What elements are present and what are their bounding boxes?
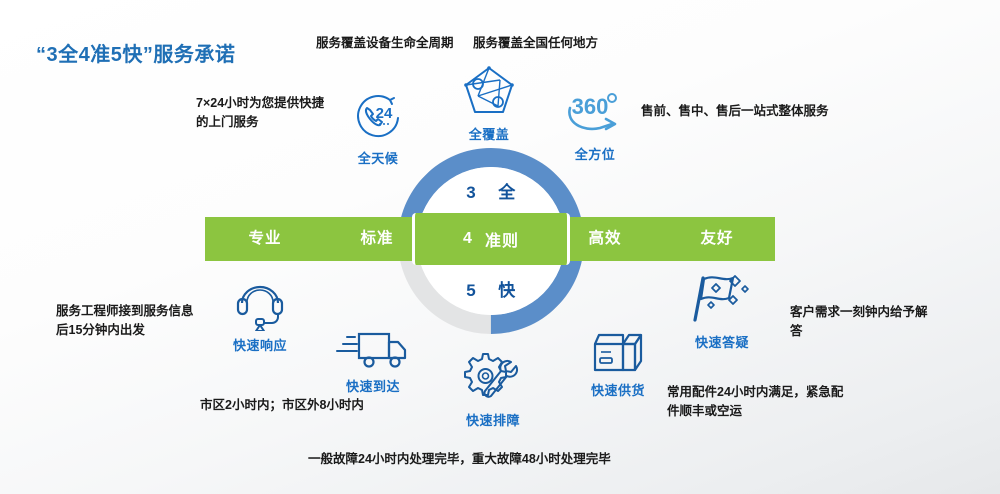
note-fault-resolution: 一般故障24小时内处理完毕，重大故障48小时处理完毕 — [308, 450, 611, 469]
center-row-three-number: 3 — [466, 183, 476, 203]
truck-icon — [335, 326, 411, 372]
center-row-three: 3全 — [398, 178, 584, 203]
icon-group-fast-supply[interactable]: 快速供货 — [563, 330, 673, 399]
icon-label-fast-response: 快速响应 — [205, 335, 315, 354]
flag-icon — [689, 272, 755, 328]
center-row-five-number: 5 — [466, 281, 476, 301]
icon-group-fast-answering[interactable]: 快速答疑 — [667, 272, 777, 351]
icon-label-fast-arrival: 快速到达 — [318, 376, 428, 395]
gear-wrench-icon — [459, 348, 527, 406]
center-row-four-word: 准则 — [485, 227, 519, 251]
bar-cell-efficient: 高效 — [555, 217, 655, 261]
note-coverage-lifecycle: 服务覆盖设备生命全周期 — [316, 34, 454, 53]
icon-label-full-coverage: 全覆盖 — [434, 124, 544, 143]
pentagon-network-icon — [460, 62, 518, 120]
360-degree-icon: 360 — [560, 88, 630, 140]
headset-icon — [230, 275, 290, 331]
icon-group-fast-response[interactable]: 快速响应 — [205, 275, 315, 354]
icon-label-fast-supply: 快速供货 — [563, 380, 673, 399]
icon-group-full-coverage[interactable]: 全覆盖 — [434, 62, 544, 143]
note-247-service: 7×24小时为您提供快捷 的上门服务 — [196, 94, 324, 133]
note-one-stop-service: 售前、售中、售后一站式整体服务 — [641, 102, 829, 121]
24-hour-phone-icon: 24 — [350, 88, 406, 144]
icon-group-fast-repair[interactable]: 快速排障 — [438, 348, 548, 429]
center-row-four-number: 4 — [463, 230, 473, 248]
note-coverage-nationwide: 服务覆盖全国任何地方 — [473, 34, 598, 53]
note-dispatch-15min: 服务工程师接到服务信息 后15分钟内出发 — [56, 302, 194, 341]
svg-text:24: 24 — [376, 105, 393, 122]
center-row-five: 5快 — [398, 276, 584, 301]
center-row-three-word: 全 — [498, 183, 516, 202]
note-answer-quarter-hour: 客户需求一刻钟内给予解 答 — [790, 303, 928, 342]
page-title: “3全4准5快”服务承诺 — [36, 38, 235, 67]
note-parts-supply: 常用配件24小时内满足，紧急配 件顺丰或空运 — [667, 383, 843, 422]
slide-canvas: “3全4准5快”服务承诺 服务覆盖设备生命全周期 服务覆盖全国任何地方 7×24… — [0, 0, 1000, 494]
center-row-five-word: 快 — [498, 281, 516, 300]
bar-cell-friendly: 友好 — [667, 217, 767, 261]
svg-text:360: 360 — [572, 94, 609, 119]
box-icon — [587, 330, 649, 376]
bar-cell-professional: 专业 — [215, 217, 315, 261]
center-row-four-capsule: 4准则 — [412, 213, 570, 265]
icon-label-fast-answering: 快速答疑 — [667, 332, 777, 351]
icon-label-fast-repair: 快速排障 — [438, 410, 548, 429]
note-arrival-times: 市区2小时内；市区外8小时内 — [200, 396, 364, 415]
icon-group-fast-arrival[interactable]: 快速到达 — [318, 326, 428, 395]
